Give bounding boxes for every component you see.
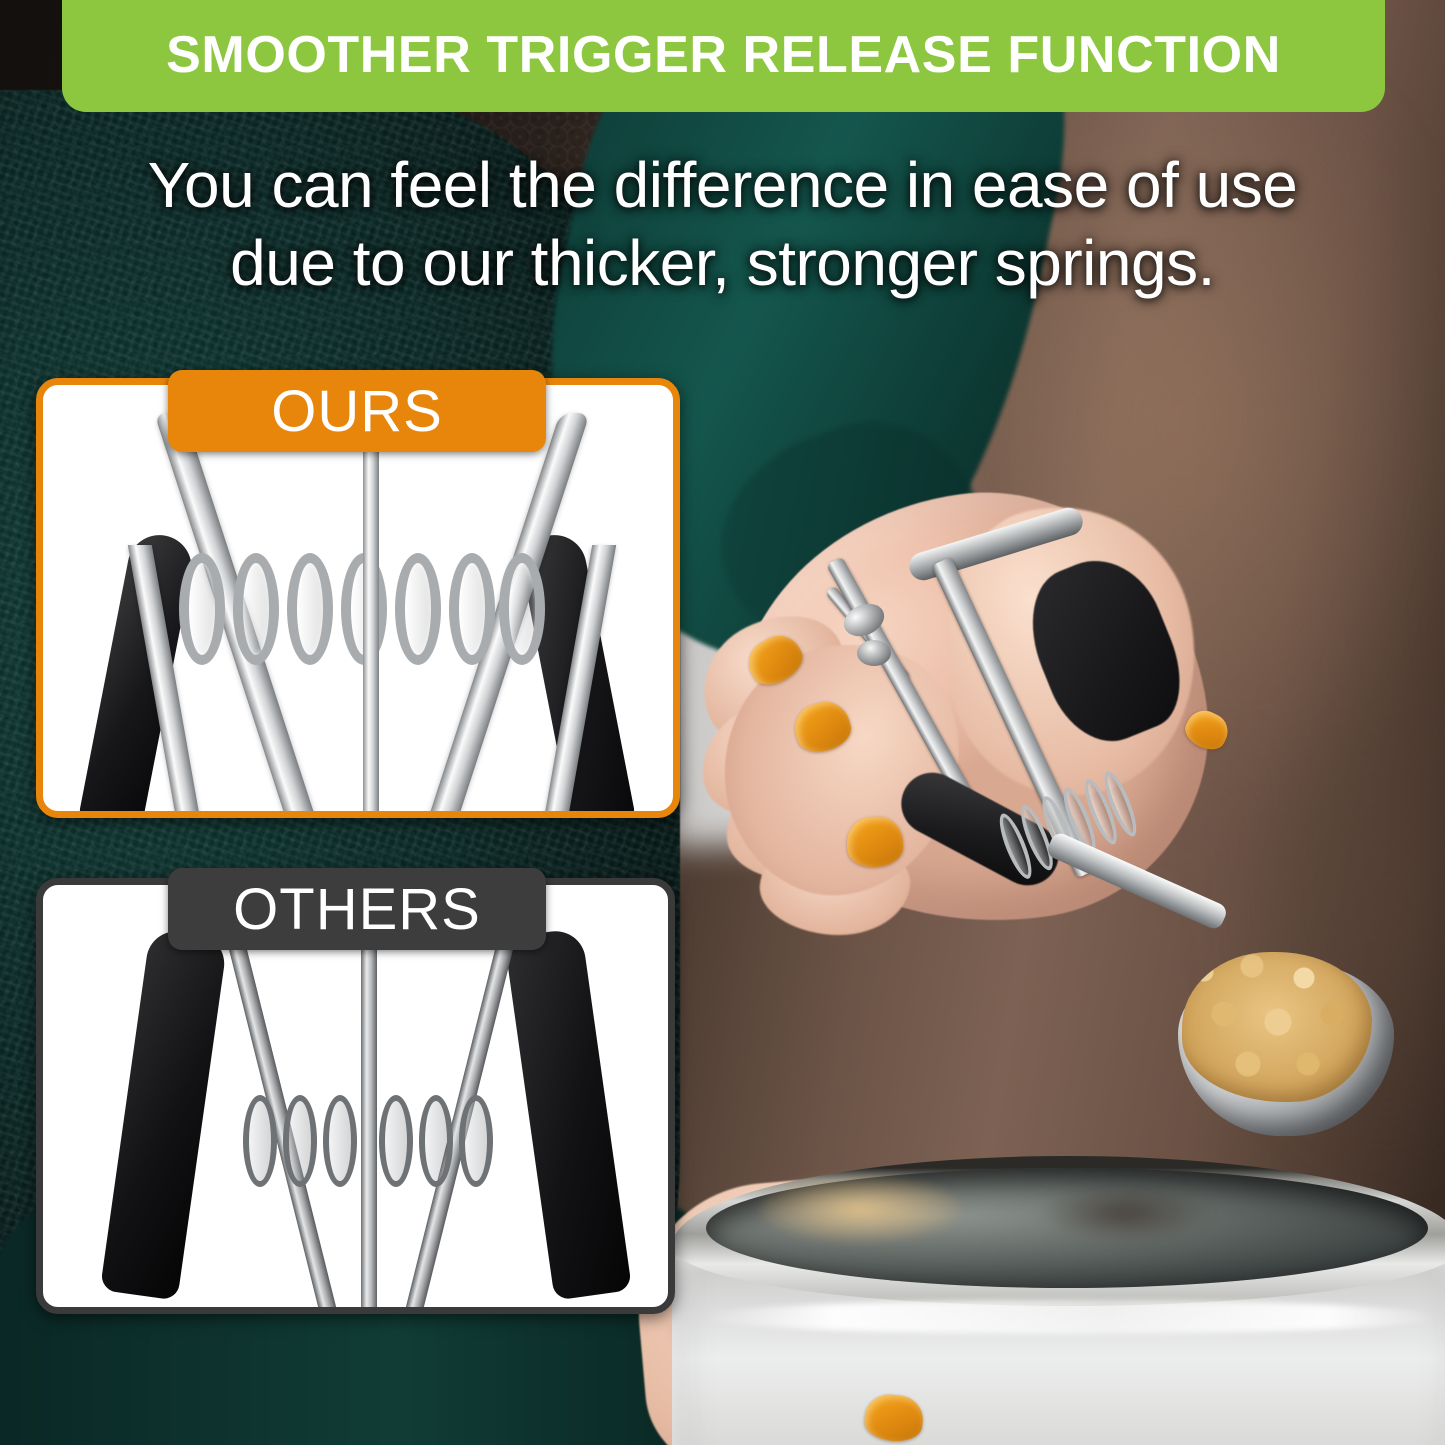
panel-label-others: OTHERS bbox=[168, 868, 546, 950]
panel-label-ours: OURS bbox=[168, 370, 546, 452]
panel-label-ours-text: OURS bbox=[271, 378, 443, 445]
subtitle-block: You can feel the difference in ease of u… bbox=[0, 146, 1445, 302]
bowl-highlight bbox=[700, 1300, 1440, 1334]
headline-banner: SMOOTHER TRIGGER RELEASE FUNCTION bbox=[62, 0, 1385, 112]
bowl-reflection-dark bbox=[1040, 1184, 1210, 1242]
scoop-pivot-nut bbox=[857, 640, 891, 666]
bowl-reflection-warm bbox=[760, 1176, 960, 1242]
others-handle-grip-right bbox=[504, 927, 632, 1300]
subtitle-line-1: You can feel the difference in ease of u… bbox=[0, 146, 1445, 224]
cookie-dough-ball bbox=[1182, 952, 1372, 1102]
panel-label-others-text: OTHERS bbox=[233, 876, 481, 943]
others-handle-grip-left bbox=[100, 927, 228, 1300]
headline-text: SMOOTHER TRIGGER RELEASE FUNCTION bbox=[166, 17, 1281, 85]
subtitle-line-2: due to our thicker, stronger springs. bbox=[0, 224, 1445, 302]
